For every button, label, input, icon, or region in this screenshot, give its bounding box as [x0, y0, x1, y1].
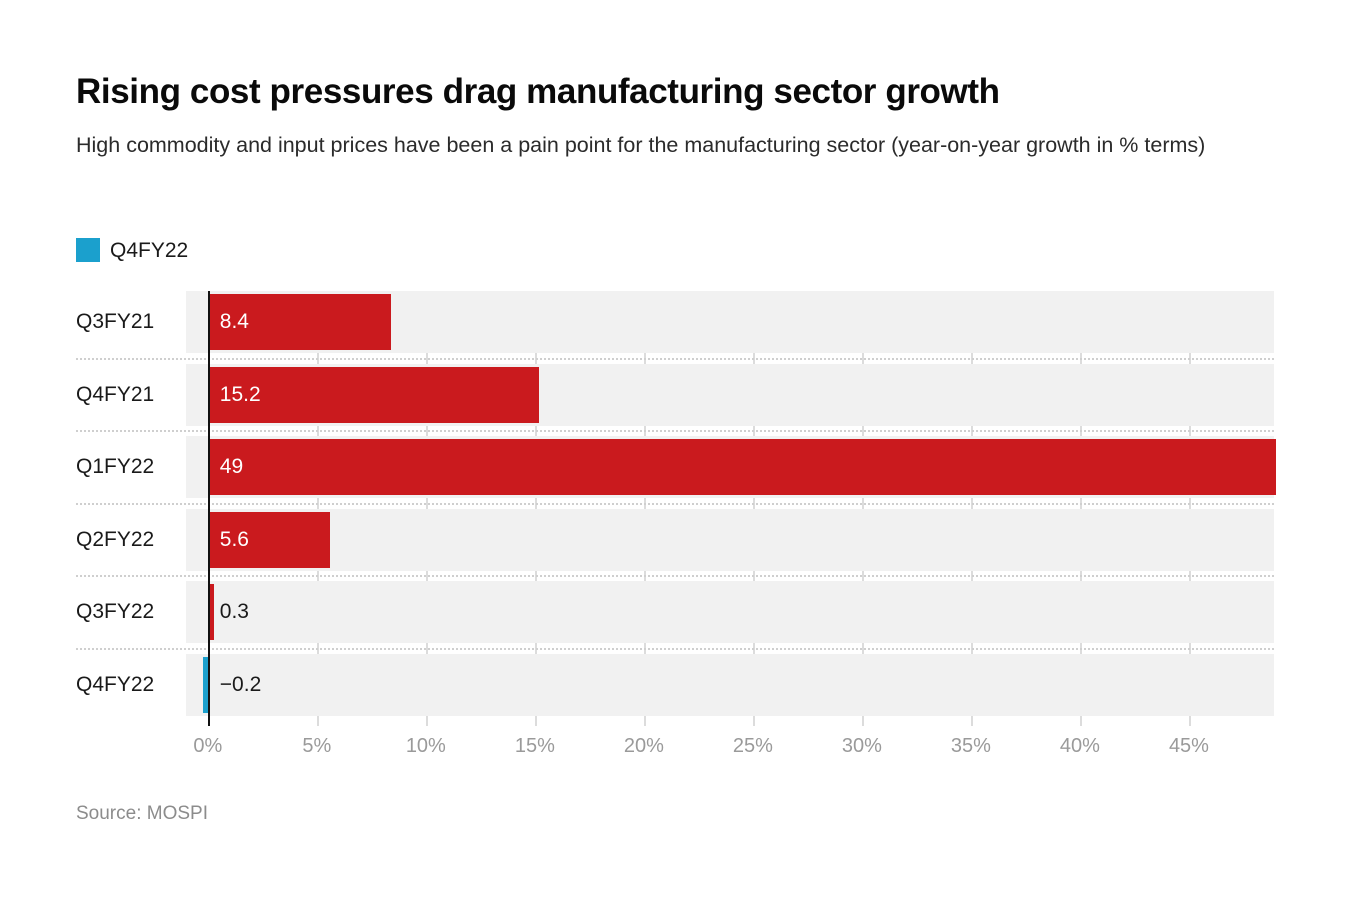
category-label-q2fy22: Q2FY22: [76, 509, 176, 571]
chart-legend: Q4FY22: [76, 238, 188, 262]
header: Rising cost pressures drag manufacturing…: [76, 72, 1266, 161]
x-tick-label: 5%: [302, 735, 331, 758]
bar-value-label: 15.2: [220, 367, 261, 423]
row-separator: [76, 430, 1274, 432]
row-band: [186, 581, 1274, 643]
chart-row: Q3FY218.4: [186, 291, 1274, 364]
chart-row: Q4FY2115.2: [186, 364, 1274, 437]
x-tick-label: 15%: [515, 735, 555, 758]
category-label-q1fy22: Q1FY22: [76, 436, 176, 498]
bar-value-label: 5.6: [220, 512, 249, 568]
plot-body: Q3FY218.4Q4FY2115.2Q1FY2249Q2FY225.6Q3FY…: [186, 291, 1274, 726]
x-tick-label: 10%: [406, 735, 446, 758]
page-title: Rising cost pressures drag manufacturing…: [76, 72, 1266, 112]
chart-row: Q3FY220.3: [186, 581, 1274, 654]
legend-label: Q4FY22: [110, 240, 188, 261]
x-tick-label: 20%: [624, 735, 664, 758]
chart-subtitle: High commodity and input prices have bee…: [76, 112, 1261, 161]
category-label-q4fy22: Q4FY22: [76, 654, 176, 716]
row-band: [186, 654, 1274, 716]
chart-row: Q4FY22−0.2: [186, 654, 1274, 727]
row-separator: [76, 503, 1274, 505]
row-separator: [76, 358, 1274, 360]
bar-value-label: 8.4: [220, 294, 249, 350]
category-label-q3fy22: Q3FY22: [76, 581, 176, 643]
bar-value-label: 49: [220, 439, 243, 495]
bar-value-label: 0.3: [220, 584, 249, 640]
x-axis: 0%5%10%15%20%25%30%35%40%45%: [186, 735, 1274, 765]
row-separator: [76, 575, 1274, 577]
chart-row: Q1FY2249: [186, 436, 1274, 509]
x-tick-label: 25%: [733, 735, 773, 758]
chart-container: Rising cost pressures drag manufacturing…: [0, 0, 1352, 904]
legend-item[interactable]: Q4FY22: [76, 238, 188, 262]
category-label-q3fy21: Q3FY21: [76, 291, 176, 353]
x-tick-label: 35%: [951, 735, 991, 758]
zero-axis-line: [208, 291, 210, 726]
bar-value-label: −0.2: [220, 657, 261, 713]
legend-swatch-icon: [76, 238, 100, 262]
bar-q1fy22[interactable]: [208, 439, 1276, 495]
x-tick-label: 45%: [1169, 735, 1209, 758]
row-band: [186, 509, 1274, 571]
x-tick-label: 40%: [1060, 735, 1100, 758]
plot-area: Q3FY218.4Q4FY2115.2Q1FY2249Q2FY225.6Q3FY…: [76, 291, 1274, 726]
row-separator: [76, 648, 1274, 650]
category-label-q4fy21: Q4FY21: [76, 364, 176, 426]
chart-row: Q2FY225.6: [186, 509, 1274, 582]
source-note: Source: MOSPI: [76, 803, 208, 825]
x-tick-label: 30%: [842, 735, 882, 758]
x-tick-label: 0%: [193, 735, 222, 758]
